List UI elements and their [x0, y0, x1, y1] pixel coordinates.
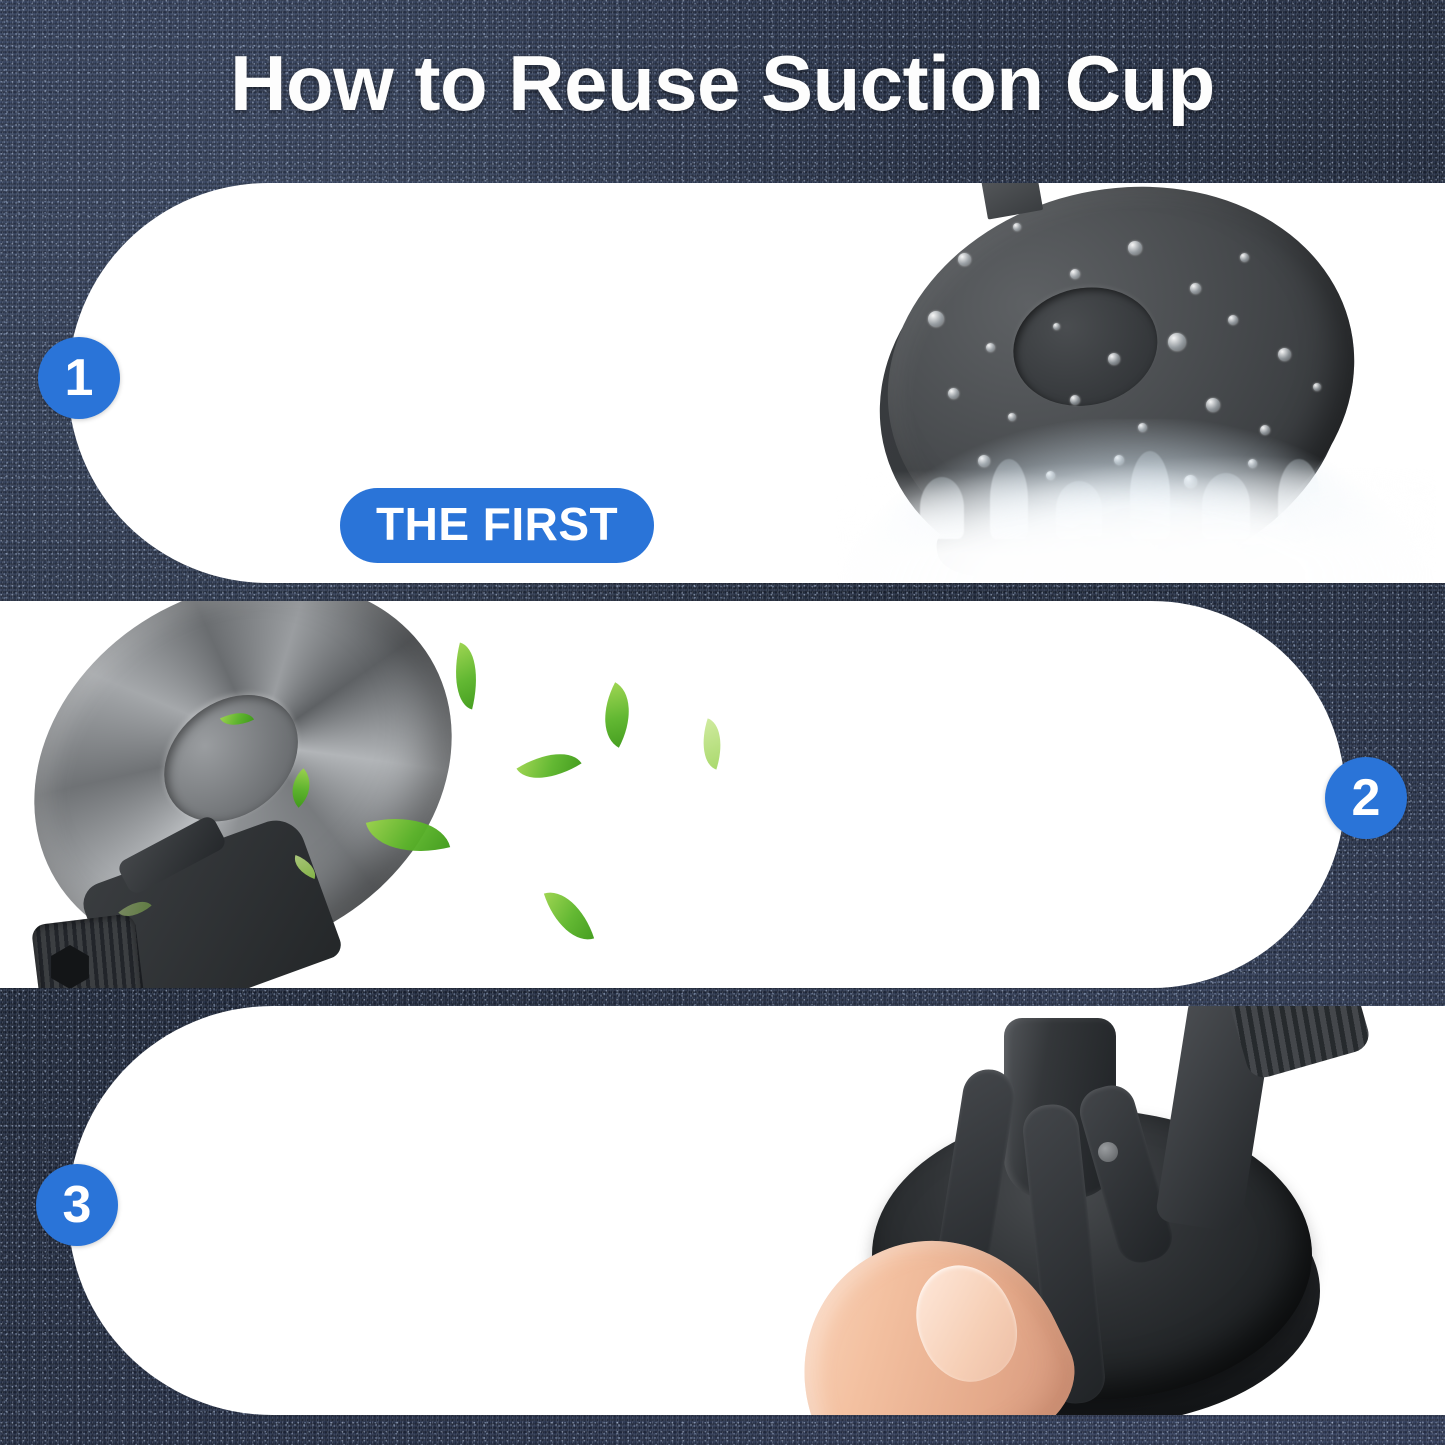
green-leaf — [589, 682, 645, 747]
green-leaf — [544, 883, 594, 949]
water-droplet — [928, 311, 944, 327]
water-droplet — [1070, 269, 1080, 279]
water-droplet — [1278, 348, 1291, 361]
water-droplet — [1128, 241, 1142, 255]
green-leaf — [693, 718, 730, 769]
suction-cup-center-dimple — [143, 669, 319, 847]
water-droplet — [1168, 333, 1186, 351]
suction-disc-center — [1002, 274, 1169, 419]
wet-suction-cup-illustration — [808, 183, 1445, 583]
water-droplet — [948, 388, 959, 399]
water-droplet — [1190, 283, 1201, 294]
step-3-number-badge: 3 — [36, 1164, 118, 1246]
water-droplet — [1053, 323, 1060, 330]
step-panel-2: THE SECOND Air dry to restore suction — [0, 601, 1345, 988]
page-title: How to Reuse Suction Cup — [0, 44, 1445, 122]
air-dry-suction-cup-illustration — [0, 601, 760, 988]
step-1-text: THE FIRST Rinse with warm water — [340, 488, 793, 583]
water-droplet — [1108, 353, 1120, 365]
green-leaf — [445, 643, 487, 710]
water-droplet — [1240, 253, 1249, 262]
pressure-lock-buckle-illustration — [768, 1006, 1445, 1415]
water-droplet — [1228, 315, 1238, 325]
step-1-pill-label: THE FIRST — [340, 488, 654, 563]
step-2-number-badge: 2 — [1325, 757, 1407, 839]
water-droplet — [958, 253, 971, 266]
green-leaf — [516, 738, 581, 794]
water-droplet — [1013, 223, 1021, 231]
pivot-pin — [1098, 1142, 1118, 1162]
water-droplet — [1070, 395, 1080, 405]
water-droplet — [1313, 383, 1321, 391]
water-splash-pool — [836, 419, 1436, 583]
step-panel-3: THE THIRD Pressure lock buckle — [68, 1006, 1445, 1415]
water-droplet — [1206, 398, 1220, 412]
step-1-number-badge: 1 — [38, 337, 120, 419]
infographic-poster: How to Reuse Suction Cup — [0, 0, 1445, 1445]
water-droplet — [986, 343, 995, 352]
step-panel-1: THE FIRST Rinse with warm water — [68, 183, 1445, 583]
